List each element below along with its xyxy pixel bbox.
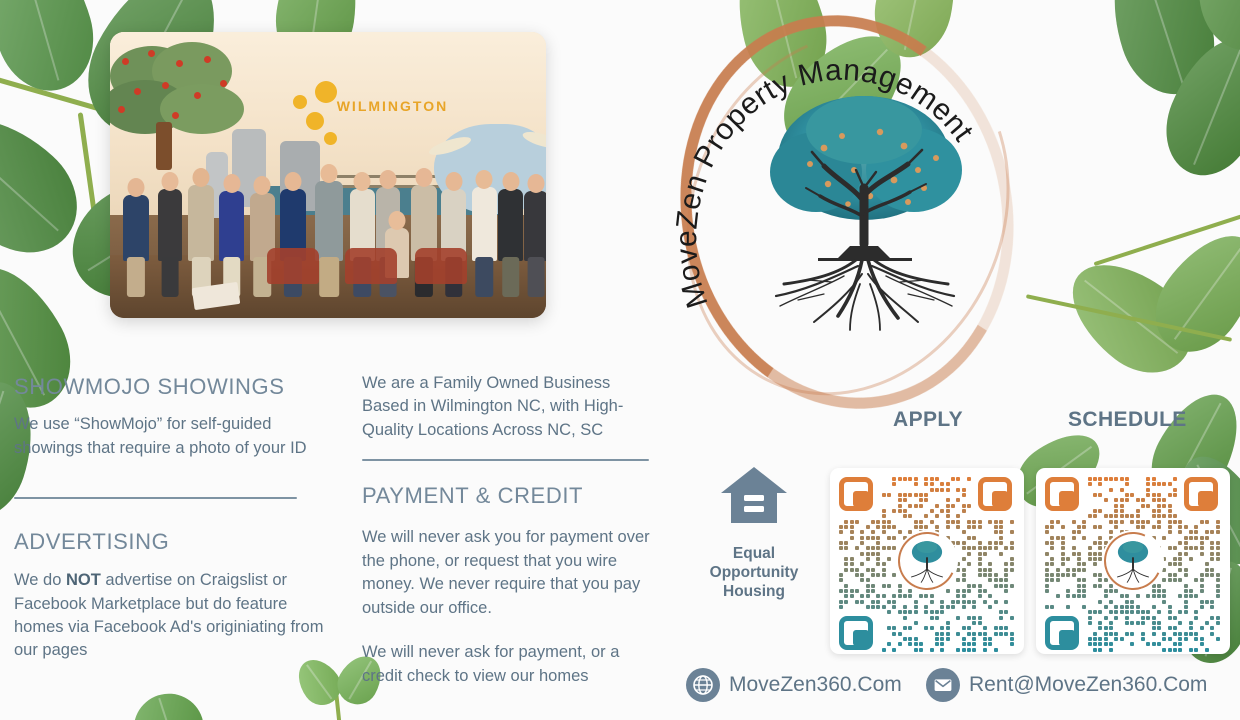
payment-credit-body-2: We will never ask for payment, or a cred… xyxy=(362,641,654,688)
contact-email[interactable]: Rent@MoveZen360.Com xyxy=(926,668,1207,702)
team-photo: WILMINGTON xyxy=(110,32,546,318)
advertising-heading: ADVERTISING xyxy=(14,530,332,554)
equal-housing-line-1: Equal xyxy=(690,544,818,563)
advertising-body-pre: We do xyxy=(14,571,66,589)
showmojo-heading: SHOWMOJO SHOWINGS xyxy=(14,375,332,399)
house-equal-icon xyxy=(719,465,789,527)
globe-icon xyxy=(686,668,720,702)
tree-icon xyxy=(758,84,970,334)
flyer-page: WILMINGTON SHOWMOJO SHOWINGS We use xyxy=(0,0,1240,720)
equal-housing-line-3: Housing xyxy=(690,582,818,601)
company-logo: MoveZen Property Management xyxy=(676,6,1028,418)
payment-credit-heading: PAYMENT & CREDIT xyxy=(362,484,654,508)
advertising-not-emphasis: NOT xyxy=(66,571,101,589)
apply-heading: APPLY xyxy=(893,408,963,432)
payment-credit-body: We will never ask you for payment over t… xyxy=(362,526,654,620)
equal-housing-label: Equal Opportunity Housing xyxy=(690,544,818,602)
advertising-body: We do NOT advertise on Craigslist or Fac… xyxy=(14,569,332,663)
qr-code-apply[interactable] xyxy=(830,468,1024,654)
schedule-heading: SCHEDULE xyxy=(1068,408,1187,432)
envelope-icon xyxy=(926,668,960,702)
column-left: SHOWMOJO SHOWINGS We use “ShowMojo” for … xyxy=(14,375,332,663)
column-middle: We are a Family Owned Business Based in … xyxy=(362,372,654,688)
qr-code-icon xyxy=(839,477,1015,645)
mural-word: WILMINGTON xyxy=(337,98,449,114)
family-owned-body: We are a Family Owned Business Based in … xyxy=(362,372,654,442)
equal-opportunity-housing: Equal Opportunity Housing xyxy=(690,465,818,602)
contact-website[interactable]: MoveZen360.Com xyxy=(686,668,902,702)
website-label: MoveZen360.Com xyxy=(729,673,902,697)
email-label: Rent@MoveZen360.Com xyxy=(969,673,1207,697)
divider-middle xyxy=(362,459,649,461)
qr-code-schedule[interactable] xyxy=(1036,468,1230,654)
equal-housing-line-2: Opportunity xyxy=(690,563,818,582)
showmojo-body: We use “ShowMojo” for self-guided showin… xyxy=(14,413,332,460)
qr-code-icon xyxy=(1045,477,1221,645)
divider-left xyxy=(14,497,297,499)
